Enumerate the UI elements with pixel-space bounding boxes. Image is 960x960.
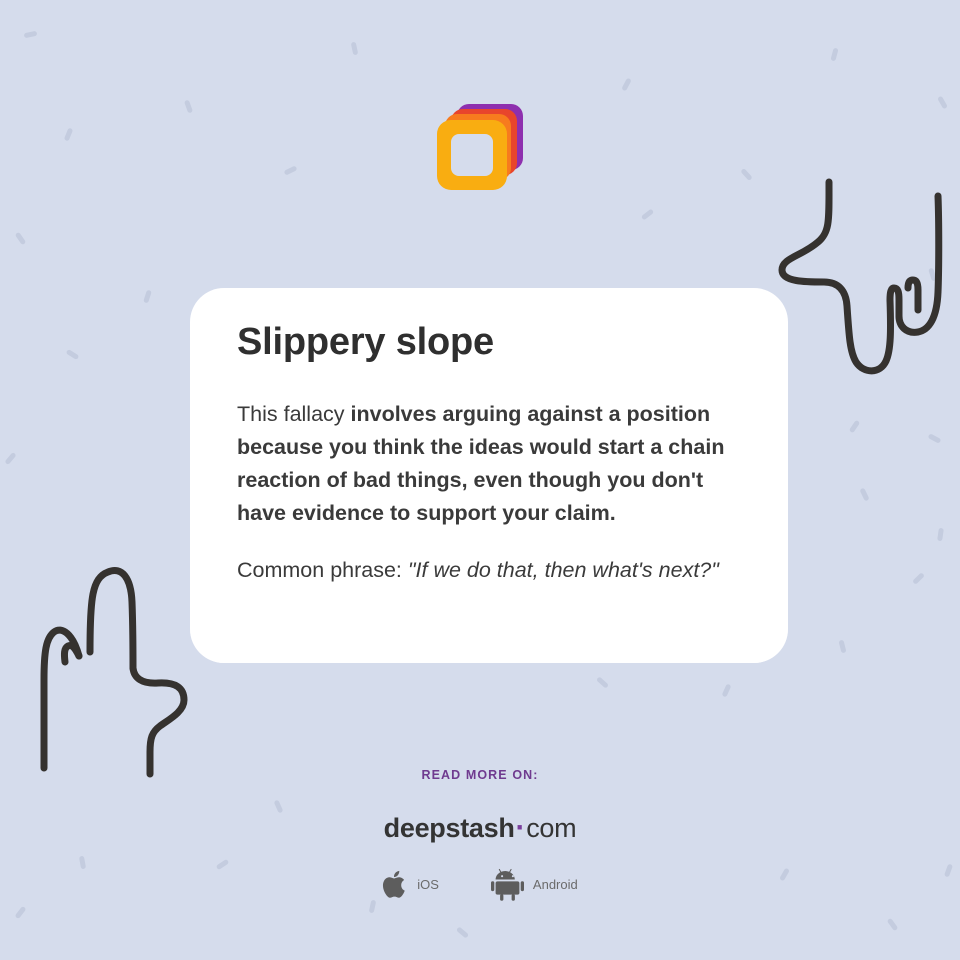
hand-pointing-down-icon (772, 170, 952, 385)
read-more-label: READ MORE ON: (0, 768, 960, 782)
confetti-dash (621, 78, 632, 92)
confetti-dash (66, 349, 80, 360)
android-icon (491, 868, 524, 901)
logo-cutout (451, 134, 493, 176)
hand-pointing-up-icon (18, 556, 208, 786)
fallacy-description: This fallacy involves arguing against a … (237, 398, 740, 530)
confetti-dash (887, 918, 899, 931)
wordmark-tld: com (526, 813, 576, 843)
card-fade-overlay (190, 617, 788, 663)
confetti-dash (641, 209, 654, 221)
confetti-dash (722, 684, 732, 698)
confetti-dash (849, 420, 860, 434)
android-badge[interactable]: Android (491, 868, 578, 901)
confetti-dash (24, 31, 38, 39)
quote-card: Slippery slope This fallacy involves arg… (190, 288, 788, 663)
confetti-dash (830, 48, 838, 62)
deepstash-logo (0, 104, 960, 190)
confetti-dash (928, 268, 937, 282)
confetti-dash (928, 433, 942, 444)
common-phrase-label: Common phrase: (237, 558, 408, 582)
wordmark-dot: · (515, 811, 527, 844)
deepstash-wordmark[interactable]: deepstash·com (0, 811, 960, 845)
ios-label: iOS (417, 877, 439, 892)
confetti-dash (369, 900, 377, 914)
android-label: Android (533, 877, 578, 892)
confetti-dash (15, 906, 27, 919)
ios-badge[interactable]: iOS (382, 869, 439, 900)
wordmark-brand: deepstash (384, 813, 515, 843)
confetti-dash (839, 640, 847, 654)
common-phrase-line: Common phrase: "If we do that, then what… (237, 554, 740, 587)
confetti-dash (15, 232, 27, 246)
apple-icon (382, 869, 408, 900)
footer: READ MORE ON: deepstash·com iOS (0, 768, 960, 901)
common-phrase-quote: "If we do that, then what's next?" (408, 558, 719, 582)
page-title: Slippery slope (237, 322, 740, 364)
deepstash-quote-card-image: Slippery slope This fallacy involves arg… (0, 0, 960, 960)
confetti-dash (937, 528, 944, 542)
confetti-dash (912, 572, 925, 585)
app-store-badges: iOS (0, 868, 960, 901)
description-lead: This fallacy (237, 402, 351, 426)
confetti-dash (859, 488, 869, 502)
confetti-dash (351, 42, 359, 56)
confetti-dash (456, 926, 469, 938)
confetti-dash (143, 290, 152, 304)
confetti-dash (4, 452, 16, 465)
confetti-dash (596, 676, 609, 688)
